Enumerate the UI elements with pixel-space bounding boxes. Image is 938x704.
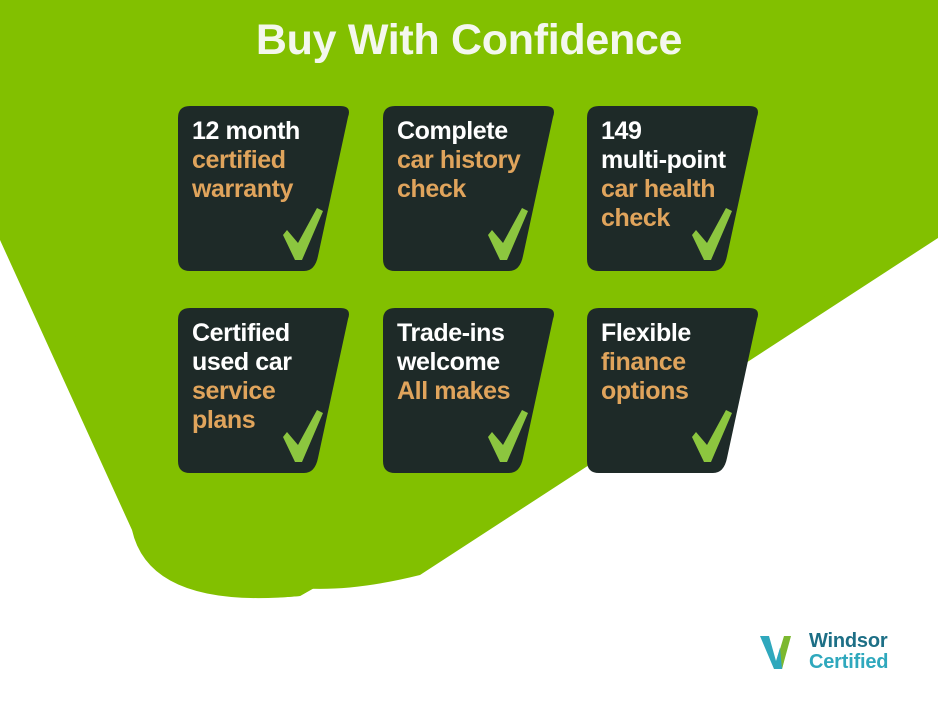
card-line-white: Flexible xyxy=(601,319,751,348)
card-line-orange: check xyxy=(397,175,547,204)
benefit-card[interactable]: 149 multi-point car health check xyxy=(587,106,761,271)
logo-wordmark: Windsor Certified xyxy=(809,631,888,673)
benefit-card-row-1: 12 month certified warranty Complete car… xyxy=(178,106,758,271)
card-line-white: used car xyxy=(192,348,342,377)
card-line-white: Certified xyxy=(192,319,342,348)
card-line-orange: car history xyxy=(397,146,547,175)
check-mark-icon xyxy=(485,409,531,465)
benefit-card[interactable]: Trade-ins welcome All makes xyxy=(383,308,557,473)
card-line-white: 149 xyxy=(601,117,751,146)
card-text: 12 month certified warranty xyxy=(192,117,342,204)
page-title: Buy With Confidence xyxy=(0,17,938,64)
check-mark-icon xyxy=(280,207,326,263)
benefit-card[interactable]: Flexible finance options xyxy=(587,308,761,473)
card-line-orange: certified xyxy=(192,146,342,175)
benefit-card[interactable]: Complete car history check xyxy=(383,106,557,271)
check-mark-icon xyxy=(689,207,735,263)
card-line-orange: warranty xyxy=(192,175,342,204)
card-line-orange: service xyxy=(192,377,342,406)
logo-line-certified: Certified xyxy=(809,652,888,673)
card-line-orange: finance xyxy=(601,348,751,377)
check-mark-icon xyxy=(689,409,735,465)
card-line-orange: options xyxy=(601,377,751,406)
check-mark-icon xyxy=(280,409,326,465)
benefit-card[interactable]: Certified used car service plans xyxy=(178,308,352,473)
windsor-w-monogram-icon xyxy=(758,631,802,673)
card-line-orange: car health xyxy=(601,175,751,204)
check-mark-icon xyxy=(485,207,531,263)
benefit-card-grid: 12 month certified warranty Complete car… xyxy=(178,106,758,473)
card-line-white: Complete xyxy=(397,117,547,146)
logo-line-windsor: Windsor xyxy=(809,631,888,652)
card-line-orange: All makes xyxy=(397,377,547,406)
benefit-card[interactable]: 12 month certified warranty xyxy=(178,106,352,271)
card-line-white: welcome xyxy=(397,348,547,377)
card-text: Flexible finance options xyxy=(601,319,751,406)
card-line-white: 12 month xyxy=(192,117,342,146)
slide-canvas: Buy With Confidence 12 month certified w… xyxy=(0,0,938,704)
benefit-card-row-2: Certified used car service plans Trade-i… xyxy=(178,308,758,473)
card-text: Trade-ins welcome All makes xyxy=(397,319,547,406)
card-text: Complete car history check xyxy=(397,117,547,204)
brand-logo[interactable]: Windsor Certified xyxy=(758,626,928,678)
card-line-white: Trade-ins xyxy=(397,319,547,348)
card-line-white: multi-point xyxy=(601,146,751,175)
